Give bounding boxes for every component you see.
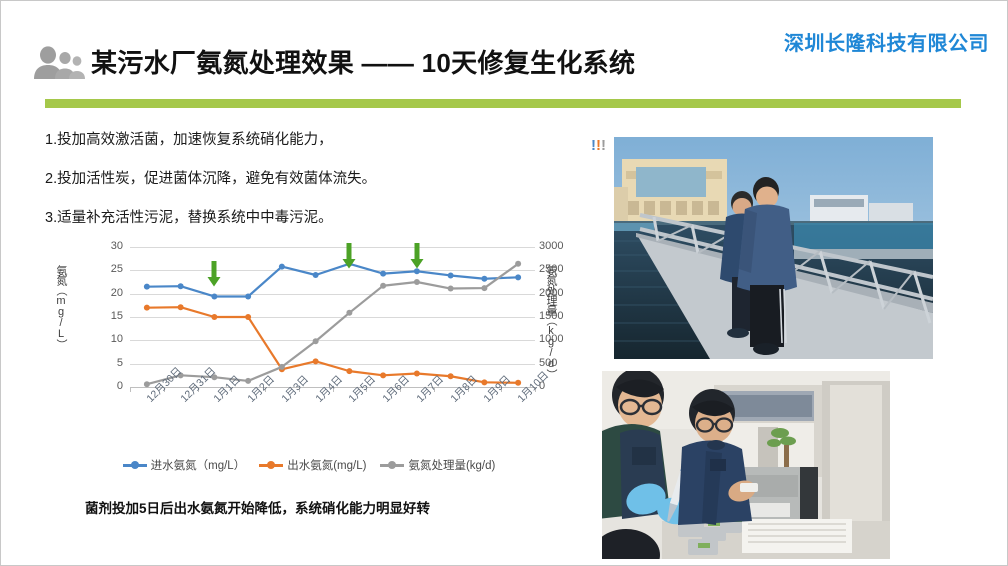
dosing-arrow-icon [342, 243, 356, 269]
x-axis-tickmark [130, 387, 131, 392]
series-point [448, 373, 454, 379]
company-name: 深圳长隆科技有限公司 [784, 27, 989, 56]
y-axis-left-tick-label: 15 [93, 310, 123, 322]
series-point [481, 379, 487, 385]
legend-item[interactable]: 氨氮处理量(kg/d) [380, 457, 495, 473]
series-point [515, 274, 521, 280]
title-row: 某污水厂氨氮处理效果 —— 10天修复生化系统 [29, 43, 635, 80]
chart-caption: 菌剂投加5日后出水氨氮开始降低，系统硝化能力明显好转 [85, 497, 430, 517]
bullet-item-3: 3.适量补充活性污泥，替换系统中中毒污泥。 [45, 209, 565, 227]
dosing-arrow-icon [410, 243, 424, 269]
series-point [414, 268, 420, 274]
y-axis-left-tick-label: 20 [93, 287, 123, 299]
series-point [245, 378, 251, 384]
people-group-icon [29, 44, 85, 80]
series-line [147, 264, 518, 297]
y-axis-left-tick-label: 25 [93, 263, 123, 275]
y-axis-left-tick-label: 0 [93, 380, 123, 392]
y-axis-left-tick-label: 30 [93, 240, 123, 252]
series-point [211, 314, 217, 320]
chart-legend: 进水氨氮（mg/L）出水氨氮(mg/L)氨氮处理量(kg/d) [69, 457, 549, 473]
bullet-list: 1.投加高效激活菌，加速恢复系统硝化能力， 2.投加活性炭，促进菌体沉降，避免有… [45, 131, 565, 248]
chart-plot-area: 氨氮（mg/L） 氨氮处理量（kg/d） 051015202530 050010… [45, 235, 565, 450]
photo-lab-sampling [602, 371, 890, 559]
y-axis-right-tick-label: 3000 [539, 240, 573, 252]
ammonia-nitrogen-chart: 氨氮（mg/L） 氨氮处理量（kg/d） 051015202530 050010… [45, 235, 565, 535]
series-point [380, 271, 386, 277]
legend-swatch-icon [380, 460, 404, 470]
y-axis-left-tick-label: 5 [93, 357, 123, 369]
series-point [380, 372, 386, 378]
series-point [346, 368, 352, 374]
series-point [380, 283, 386, 289]
y-axis-left-title: 氨氮（mg/L） [53, 265, 69, 385]
series-point [515, 380, 521, 386]
series-point [144, 284, 150, 290]
series-point [178, 304, 184, 310]
series-point [313, 272, 319, 278]
series-point [279, 364, 285, 370]
series-point [211, 293, 217, 299]
photo-wastewater-walkway [614, 137, 933, 359]
legend-label: 进水氨氮（mg/L） [151, 457, 246, 473]
y-axis-right-tick-label: 2500 [539, 263, 573, 275]
dosing-arrow-icon [207, 261, 221, 287]
y-axis-right-tick-label: 1500 [539, 310, 573, 322]
y-axis-right-tick-label: 1000 [539, 333, 573, 345]
y-axis-right-tick-label: 500 [539, 357, 573, 369]
series-point [346, 310, 352, 316]
legend-swatch-icon [123, 460, 147, 470]
chart-series-lines [130, 247, 535, 387]
series-point [313, 358, 319, 364]
series-point [515, 261, 521, 267]
legend-item[interactable]: 出水氨氮(mg/L) [259, 457, 366, 473]
page-title: 某污水厂氨氮处理效果 —— 10天修复生化系统 [91, 43, 635, 80]
series-point [144, 305, 150, 311]
bullet-item-2: 2.投加活性炭，促进菌体沉降，避免有效菌体流失。 [45, 170, 565, 188]
legend-item[interactable]: 进水氨氮（mg/L） [123, 457, 246, 473]
series-point [245, 314, 251, 320]
series-point [144, 381, 150, 387]
bullet-item-1: 1.投加高效激活菌，加速恢复系统硝化能力， [45, 131, 565, 149]
series-point [245, 293, 251, 299]
series-point [178, 283, 184, 289]
series-point [414, 279, 420, 285]
attention-marker: !!! [591, 138, 606, 153]
y-axis-right-tick-label: 2000 [539, 287, 573, 299]
series-point [313, 338, 319, 344]
title-accent-bar [45, 99, 961, 108]
legend-swatch-icon [259, 460, 283, 470]
series-point [448, 286, 454, 292]
y-axis-left-tick-label: 10 [93, 333, 123, 345]
series-point [481, 276, 487, 282]
series-point [279, 264, 285, 270]
slide-canvas: 深圳长隆科技有限公司 某污水厂氨氮处理效果 —— 10天修复生化系统 [0, 0, 1008, 566]
series-point [414, 370, 420, 376]
series-point [481, 285, 487, 291]
series-point [448, 272, 454, 278]
legend-label: 出水氨氮(mg/L) [287, 457, 366, 473]
legend-label: 氨氮处理量(kg/d) [408, 457, 495, 473]
